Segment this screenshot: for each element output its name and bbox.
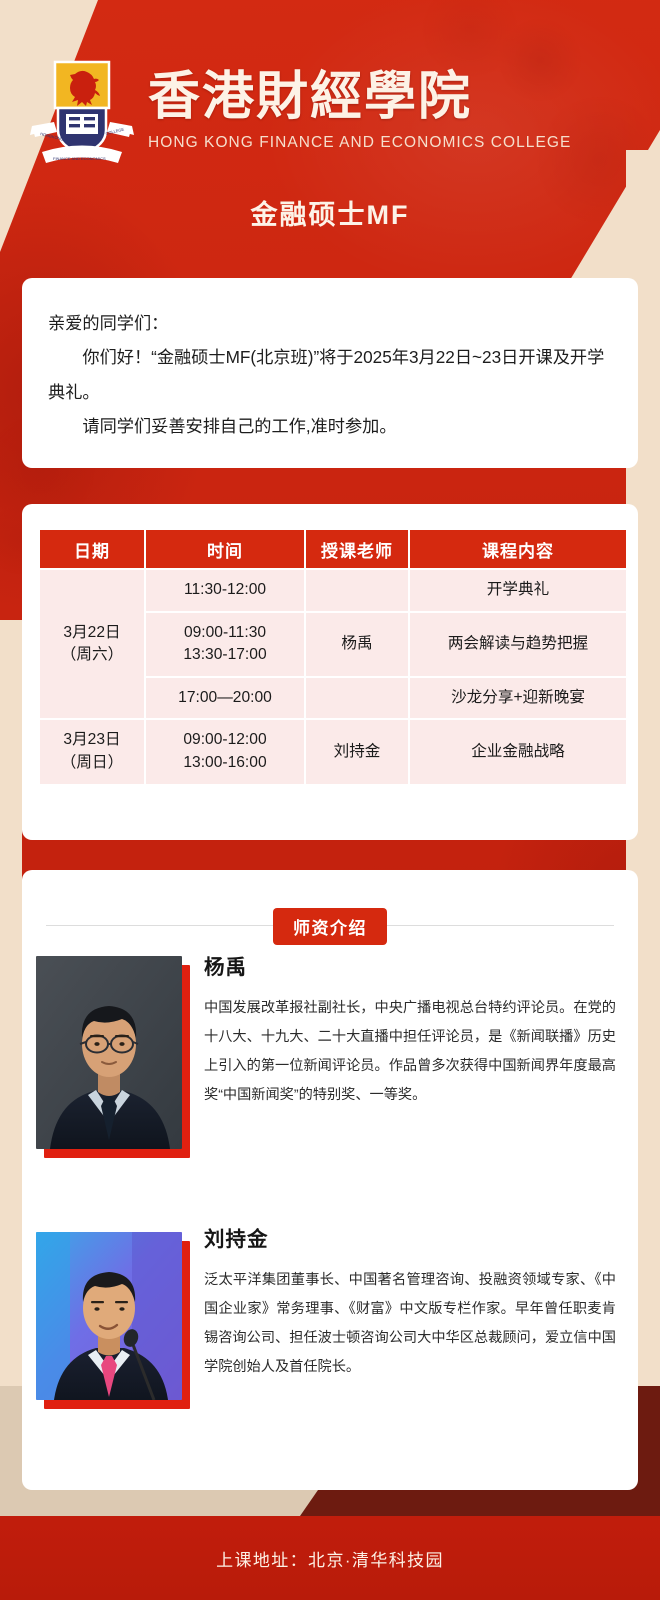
cell-content: 企业金融战略 [410, 720, 626, 783]
cell-content: 开学典礼 [410, 570, 626, 611]
cell-content: 两会解读与趋势把握 [410, 613, 626, 676]
schedule-card: 日期 时间 授课老师 课程内容 3月22日 （周六） 11:30-12:00 开… [22, 504, 638, 840]
column-header-date: 日期 [40, 530, 144, 568]
table-row: 3月23日 （周日） 09:00-12:00 13:00-16:00 刘持金 企… [40, 720, 626, 783]
cell-date-0322: 3月22日 （周六） [40, 570, 144, 718]
faculty-text-block: 杨禹 中国发展改革报社副社长，中央广播电视总台特约评论员。在党的十八大、十九大、… [204, 950, 616, 1110]
time-line-2: 13:30-17:00 [150, 644, 300, 667]
cell-teacher [306, 570, 408, 611]
faculty-bio: 中国发展改革报社副社长，中央广播电视总台特约评论员。在党的十八大、十九大、二十大… [204, 994, 616, 1110]
column-header-content: 课程内容 [410, 530, 626, 568]
school-name-cn: 香港財經學院 [148, 70, 571, 125]
cell-time: 11:30-12:00 [146, 570, 304, 611]
school-name-en: HONG KONG FINANCE AND ECONOMICS COLLEGE [148, 134, 571, 152]
table-row: 3月22日 （周六） 11:30-12:00 开学典礼 [40, 570, 626, 611]
school-crest-icon: HONGKONG COLLEGE FINANCE AND ECONOMICS [28, 52, 136, 170]
time-line-1: 09:00-12:00 [150, 729, 300, 752]
decorative-band-left [0, 620, 22, 1450]
poster-footer: 上课地址：北京·清华科技园 [0, 1516, 660, 1600]
faculty-text-block: 刘持金 泛太平洋集团董事长、中国著名管理咨询、投融资领域专家、《中国企业家》常务… [204, 1222, 616, 1382]
faculty-name: 刘持金 [204, 1222, 616, 1252]
logo-row: HONGKONG COLLEGE FINANCE AND ECONOMICS 香… [28, 52, 571, 170]
date-line-1: 3月22日 [44, 622, 140, 645]
school-wordmark: 香港財經學院 HONG KONG FINANCE AND ECONOMICS C… [148, 70, 571, 152]
notice-line-1: 你们好！“金融硕士MF(北京班)”将于2025年3月22日~23日开课及开学典礼… [48, 340, 612, 409]
date-line-2: （周六） [44, 644, 140, 667]
cell-teacher: 杨禹 [306, 613, 408, 676]
faculty-section-head: 师资介绍 [22, 892, 638, 938]
faculty-bio: 泛太平洋集团董事长、中国著名管理咨询、投融资领域专家、《中国企业家》常务理事、《… [204, 1266, 616, 1382]
table-header-row: 日期 时间 授课老师 课程内容 [40, 530, 626, 568]
cell-content: 沙龙分享+迎新晚宴 [410, 678, 626, 719]
cell-time: 09:00-12:00 13:00-16:00 [146, 720, 304, 783]
cell-time: 17:00—20:00 [146, 678, 304, 719]
cell-teacher: 刘持金 [306, 720, 408, 783]
poster-root: HONGKONG COLLEGE FINANCE AND ECONOMICS 香… [0, 0, 660, 1600]
faculty-portrait-photo [36, 1232, 182, 1400]
date-line-1: 3月23日 [44, 729, 140, 752]
program-title: 金融硕士MF [0, 193, 660, 232]
svg-text:FINANCE AND ECONOMICS: FINANCE AND ECONOMICS [53, 156, 106, 161]
time-line-2: 13:00-16:00 [150, 752, 300, 775]
faculty-section-badge: 师资介绍 [273, 908, 387, 945]
column-header-time: 时间 [146, 530, 304, 568]
cell-date-0323: 3月23日 （周日） [40, 720, 144, 783]
poster-header: HONGKONG COLLEGE FINANCE AND ECONOMICS 香… [0, 0, 660, 272]
date-line-2: （周日） [44, 752, 140, 775]
column-header-teacher: 授课老师 [306, 530, 408, 568]
cell-time: 09:00-11:30 13:30-17:00 [146, 613, 304, 676]
schedule-table: 日期 时间 授课老师 课程内容 3月22日 （周六） 11:30-12:00 开… [38, 528, 628, 786]
notice-salutation: 亲爱的同学们： [48, 306, 612, 340]
faculty-name: 杨禹 [204, 950, 616, 980]
footer-address: 上课地址：北京·清华科技园 [216, 1546, 444, 1571]
faculty-photo-frame [36, 1232, 184, 1402]
time-line-1: 09:00-11:30 [150, 622, 300, 645]
notice-card: 亲爱的同学们： 你们好！“金融硕士MF(北京班)”将于2025年3月22日~23… [22, 278, 638, 468]
notice-body: 亲爱的同学们： 你们好！“金融硕士MF(北京班)”将于2025年3月22日~23… [22, 278, 638, 444]
faculty-card: 师资介绍 [22, 870, 638, 1490]
faculty-portrait-photo [36, 956, 182, 1149]
notice-line-2: 请同学们妥善安排自己的工作,准时参加。 [48, 409, 612, 443]
cell-teacher [306, 678, 408, 719]
faculty-photo-frame [36, 956, 184, 1152]
